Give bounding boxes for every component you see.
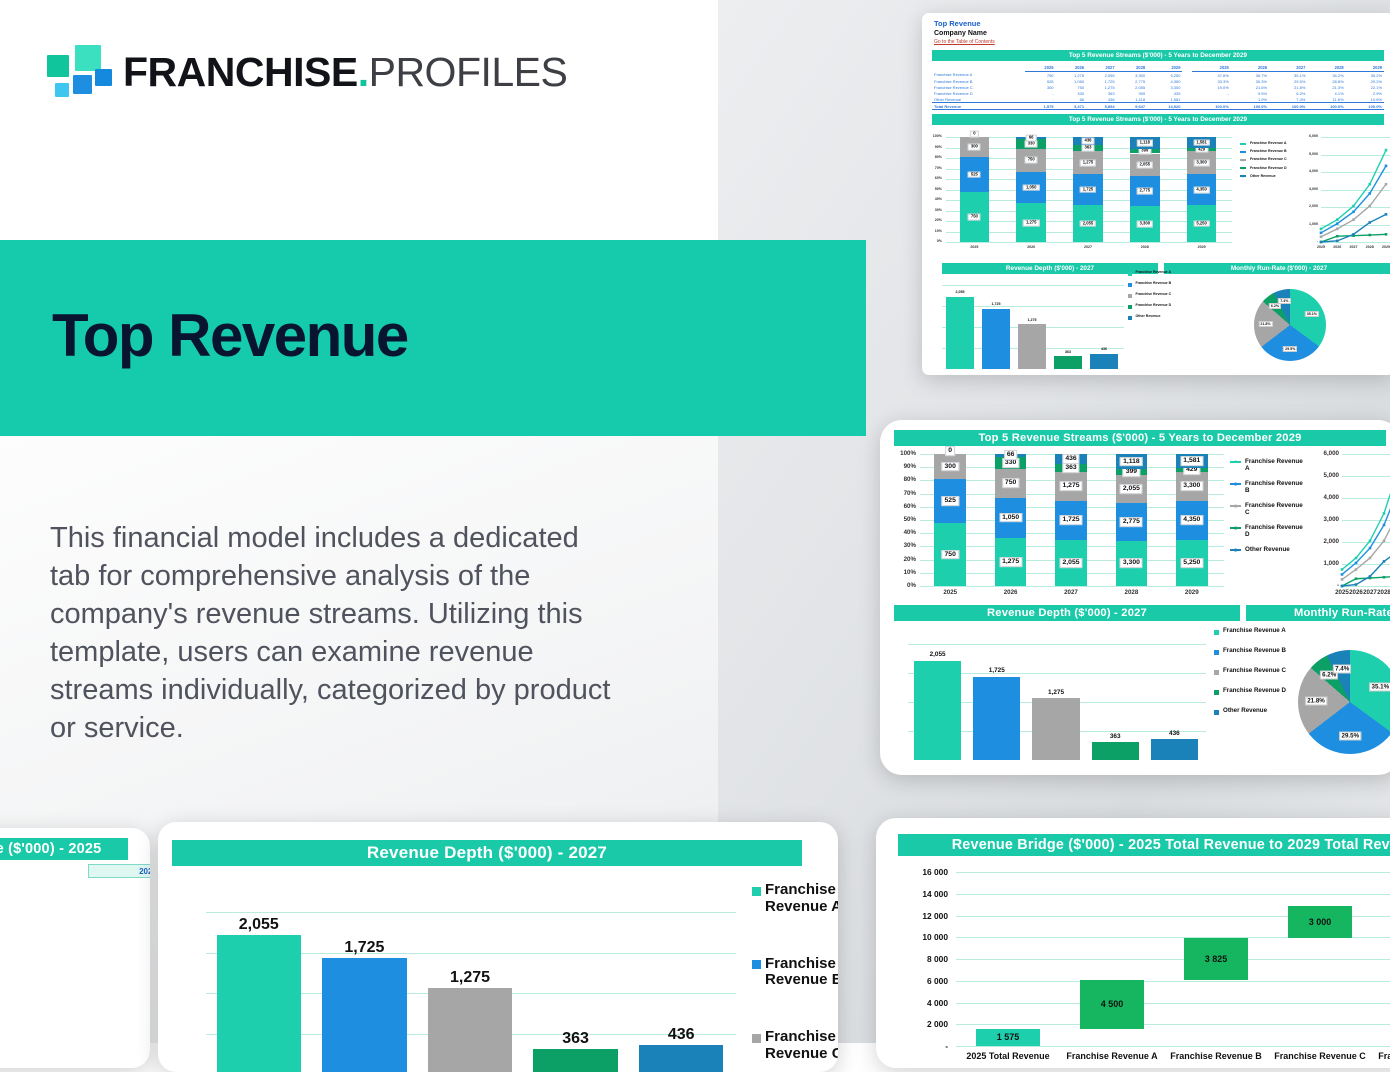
revenue-depth-panel-thumbnail[interactable]: Revenue Depth ($'000) - 2027 2,0551,7251… — [158, 822, 838, 1072]
bar — [1032, 698, 1079, 760]
left-upper-backdrop — [0, 0, 718, 240]
data-label: 1,050 — [1023, 184, 1039, 191]
x-axis-label: 2026 — [1329, 245, 1345, 249]
runrate-pie-panel-thumbnail[interactable]: Monthly Run-Rate ($'000) - 2025 2025 47,… — [0, 828, 150, 1068]
legend-swatch — [1128, 316, 1132, 320]
data-label: 4,350 — [1180, 515, 1203, 525]
data-label: 2,055 — [1120, 484, 1143, 494]
legend-swatch — [752, 960, 761, 969]
data-label: 1,275 — [1059, 481, 1082, 491]
legend-swatch — [1214, 690, 1219, 695]
data-label: 1,725 — [989, 667, 1005, 674]
toc-link[interactable]: Go to the Table of Contents — [934, 39, 1390, 47]
x-axis-label: 2027 — [1363, 589, 1377, 596]
data-label: 750 — [942, 550, 959, 560]
legend-item: Franchise Revenue C — [1128, 293, 1184, 298]
data-label: 3,300 — [1193, 159, 1209, 166]
legend-item: Franchise Revenue D — [1214, 688, 1296, 695]
col-year-pct: 2029 — [1346, 64, 1384, 72]
pie-label: 29.5% — [1283, 346, 1297, 352]
data-label: 300 — [942, 462, 959, 472]
data-label: 0 — [970, 131, 978, 138]
mini-stacked-bar-chart[interactable]: 0%10%20%30%40%50%60%70%80%90%100%7505253… — [932, 133, 1232, 251]
logo-wordmark: FRANCHISE.PROFILES — [123, 52, 567, 93]
legend-swatch — [1214, 710, 1219, 715]
data-label: 363 — [1062, 463, 1079, 473]
charts-panel-thumbnail[interactable]: Top 5 Revenue Streams ($'000) - 5 Years … — [880, 420, 1390, 775]
x-axis-label: 2027 — [1060, 245, 1117, 249]
data-label: 1,581 — [1180, 456, 1203, 466]
data-label: 1,275 — [1023, 219, 1039, 226]
y-axis-label: 8 000 — [898, 954, 948, 964]
data-label: 5,250 — [1180, 558, 1203, 568]
legend-swatch — [1214, 650, 1219, 655]
bar — [982, 309, 1011, 369]
y-axis-label: 12 000 — [898, 911, 948, 921]
y-axis-label: 6 000 — [898, 976, 948, 986]
data-label: 436 — [668, 1026, 695, 1044]
data-label: 4,350 — [1193, 186, 1209, 193]
x-axis-label: 2025 — [946, 245, 1003, 249]
legend-label: Franchise Revenue D — [1245, 524, 1308, 538]
legend-item: Franchise Revenue B — [1214, 648, 1296, 655]
legend-label: Franchise Revenue B — [1250, 149, 1287, 153]
sheet-banner-2: Top 5 Revenue Streams ($'000) - 5 Years … — [932, 114, 1384, 125]
data-label: 1,275 — [450, 969, 490, 987]
data-label: 436 — [1082, 137, 1095, 144]
bar — [639, 1045, 723, 1072]
bar — [914, 661, 961, 760]
legend-item: Franchise Revenue A — [1240, 141, 1302, 145]
pie-label: 21.8% — [1258, 321, 1272, 327]
legend-label: Other Revenue — [1250, 174, 1276, 178]
data-label: 3,300 — [1137, 221, 1153, 228]
legend-label: Franchise Revenue A — [1245, 458, 1308, 472]
legend-swatch — [1128, 294, 1132, 298]
legend-item: Franchise Revenue A — [1214, 628, 1296, 635]
sheet-title: Top Revenue — [934, 19, 1390, 29]
col-year: 2026 — [1056, 64, 1087, 72]
legend-item: Franchise Revenue B — [752, 956, 838, 990]
y-axis-label: 16 000 — [898, 867, 948, 877]
legend-item: Franchise Revenue A — [1128, 271, 1184, 276]
data-label: 66 — [1004, 450, 1018, 460]
mid-line-chart[interactable]: -1,0002,0003,0004,0005,0006,000202520262… — [1312, 450, 1390, 600]
data-label: 2,055 — [239, 916, 279, 934]
data-label: 66 — [1026, 135, 1037, 142]
data-label: 2,775 — [1137, 188, 1153, 195]
data-label: 1,275 — [1048, 689, 1064, 696]
brand-logo: FRANCHISE.PROFILES — [47, 43, 567, 101]
data-label: 1 575 — [997, 1032, 1020, 1042]
x-axis-label: 2028 — [1377, 589, 1390, 596]
col-year-pct: 2026 — [1231, 64, 1269, 72]
data-label: 1,275 — [999, 557, 1022, 567]
legend-item: Other Revenue — [1128, 315, 1184, 320]
bar — [1151, 739, 1198, 760]
x-axis-label: 2027 — [1345, 245, 1361, 249]
data-label: 2,055 — [1059, 558, 1082, 568]
data-label: 1,118 — [1120, 457, 1143, 467]
legend-swatch — [752, 1034, 761, 1043]
col-year: 2027 — [1086, 64, 1117, 72]
legend-item: Franchise Revenue D — [1240, 166, 1302, 170]
revenue-bridge-panel-thumbnail[interactable]: Revenue Bridge ($'000) - 2025 Total Reve… — [876, 818, 1390, 1068]
y-axis-label: 14 000 — [898, 889, 948, 899]
legend-label: Franchise Revenue D — [1136, 304, 1172, 308]
bm-depth-title: Revenue Depth ($'000) - 2027 — [172, 840, 802, 866]
legend-label: Franchise Revenue C — [1245, 502, 1308, 516]
data-label: 436 — [1169, 730, 1180, 737]
bar — [1092, 742, 1139, 760]
legend-item: Franchise Revenue B — [1128, 282, 1184, 287]
revenue-streams-table: 2025202620272028202920252026202720282029… — [932, 64, 1384, 110]
data-label: 1,725 — [344, 939, 384, 957]
mini-depth-legend: Franchise Revenue AFranchise Revenue BFr… — [1128, 271, 1184, 326]
x-axis-label: Franchise Revenue B — [1164, 1051, 1268, 1061]
legend-swatch — [752, 887, 761, 896]
legend-label: Other Revenue — [1245, 546, 1290, 553]
data-label: 525 — [968, 171, 981, 178]
logo-squares-icon — [47, 43, 105, 101]
data-label: 2,055 — [1137, 161, 1153, 168]
legend-label: Franchise Revenue B — [1245, 480, 1308, 494]
legend-label: Franchise Revenue C — [1250, 157, 1287, 161]
bar — [322, 958, 406, 1072]
bar — [533, 1049, 617, 1072]
legend-item: Franchise Revenue B — [1230, 480, 1308, 494]
pie-label: 7.4% — [1333, 664, 1351, 673]
legend-item: Franchise Revenue C — [1240, 157, 1302, 161]
sheet-header: Top Revenue Company Name Go to the Table… — [922, 13, 1390, 46]
data-label: 2,055 — [956, 290, 965, 294]
data-label: 0 — [945, 446, 955, 456]
logo-word-franchise: FRANCHISE — [123, 49, 358, 95]
mid-stacked-bar-chart[interactable]: 0%10%20%30%40%50%60%70%80%90%100%7505253… — [894, 450, 1224, 600]
mini-revenue-depth-chart[interactable]: 2,0551,7251,275363436 — [934, 275, 1124, 375]
line-series-svg — [1304, 133, 1390, 251]
y-axis-label: 4 000 — [898, 998, 948, 1008]
data-label: 525 — [942, 496, 959, 506]
legend-item: Other Revenue — [1230, 546, 1308, 553]
mid-stacked-legend: Franchise Revenue AFranchise Revenue BFr… — [1230, 458, 1308, 561]
bar — [428, 988, 512, 1072]
x-axis-label: 2026 — [980, 589, 1040, 596]
legend-swatch — [1230, 527, 1241, 529]
legend-swatch — [1128, 272, 1132, 276]
legend-label: Franchise Revenue A — [1223, 628, 1286, 635]
bar — [973, 677, 1020, 760]
mid-depth-chart-title: Revenue Depth ($'000) - 2027 — [894, 605, 1240, 621]
pie-label: 29.5% — [1340, 731, 1362, 740]
legend-swatch — [1240, 175, 1246, 177]
sheet-company: Company Name — [934, 29, 1390, 38]
table-row-total: Total Revenue1,5753,4715,8549,64714,9201… — [932, 103, 1384, 110]
legend-label: Franchise Revenue A — [765, 882, 838, 916]
bar — [217, 935, 301, 1072]
bar — [946, 297, 975, 369]
col-year: 2029 — [1147, 64, 1182, 72]
legend-label: Franchise Revenue B — [1136, 282, 1172, 286]
x-axis-label: 2029 — [1162, 589, 1222, 596]
legend-item: Other Revenue — [1214, 708, 1296, 715]
data-label: 750 — [968, 214, 981, 221]
mid-stacked-chart-title: Top 5 Revenue Streams ($'000) - 5 Years … — [894, 430, 1386, 446]
sheet-banner-4: Monthly Run-Rate ($'000) - 2027 — [1164, 263, 1390, 274]
data-label: 2,055 — [930, 651, 946, 658]
bl-pie-title: Monthly Run-Rate ($'000) - 2025 — [0, 838, 128, 860]
mid-depth-legend: Franchise Revenue AFranchise Revenue BFr… — [1214, 628, 1296, 728]
x-axis-label: 2028 — [1362, 245, 1378, 249]
data-label: 2,055 — [1080, 220, 1096, 227]
col-year: 2028 — [1117, 64, 1148, 72]
legend-item: Franchise Revenue D — [1128, 304, 1184, 309]
legend-swatch — [1230, 461, 1241, 463]
x-axis-label: 2027 — [1041, 589, 1101, 596]
mid-revenue-mix-pie[interactable]: 35.1%29.5%21.8%6.2%7.4% — [1288, 620, 1390, 770]
legend-item: Franchise Revenue D — [1230, 524, 1308, 538]
data-label: 750 — [1025, 157, 1038, 164]
sheet-banner-1: Top 5 Revenue Streams ($'000) - 5 Years … — [932, 50, 1384, 61]
col-year: 2025 — [1025, 64, 1056, 72]
data-label: 330 — [1025, 141, 1038, 148]
bar — [1054, 356, 1083, 369]
data-label: 1,725 — [1080, 186, 1096, 193]
legend-swatch — [1240, 143, 1246, 145]
x-axis-label: 2025 Total Revenue — [956, 1051, 1060, 1061]
pie-label: 21.8% — [1305, 696, 1327, 705]
data-label: 3 000 — [1309, 917, 1332, 927]
data-label: 3,300 — [1120, 559, 1143, 569]
data-label: 1,050 — [999, 513, 1022, 523]
x-axis-label: 2025 — [1313, 245, 1329, 249]
col-year-pct: 2025 — [1192, 64, 1230, 72]
legend-label: Other Revenue — [1223, 708, 1267, 715]
legend-item: Franchise Revenue C — [752, 1029, 838, 1063]
data-label: 363 — [1110, 733, 1121, 740]
data-label: 436 — [1101, 347, 1107, 351]
data-label: 363 — [1082, 145, 1095, 152]
data-label: 1,581 — [1193, 139, 1209, 146]
legend-item: Franchise Revenue C — [1230, 502, 1308, 516]
legend-swatch — [1128, 283, 1132, 287]
data-label: 436 — [1062, 454, 1079, 464]
legend-swatch — [1214, 630, 1219, 635]
x-axis-label: 2025 — [1335, 589, 1349, 596]
legend-item: Franchise Revenue A — [1230, 458, 1308, 472]
page-title: Top Revenue — [52, 306, 408, 366]
data-label: 3,300 — [1180, 482, 1203, 492]
pie-label: 35.1% — [1305, 311, 1319, 317]
data-label: 300 — [968, 144, 981, 151]
bar — [1018, 324, 1047, 369]
mid-revenue-depth-chart[interactable]: 2,0551,7251,275363436 — [896, 628, 1206, 768]
x-axis-label: 2026 — [1003, 245, 1060, 249]
x-axis-label: 2028 — [1116, 245, 1173, 249]
data-label: 4 500 — [1101, 999, 1124, 1009]
sheet-banner-3: Revenue Depth ($'000) - 2027 — [942, 263, 1158, 274]
legend-item: Franchise Revenue A — [752, 882, 838, 916]
mini-line-chart[interactable]: -1,0002,0003,0004,0005,0006,000202520262… — [1304, 133, 1390, 251]
data-label: 2,775 — [1120, 517, 1143, 527]
legend-label: Franchise Revenue D — [1250, 166, 1287, 170]
legend-label: Other Revenue — [1136, 315, 1161, 319]
bm-depth-legend: Franchise Revenue AFranchise Revenue BFr… — [752, 882, 838, 1072]
legend-label: Franchise Revenue B — [1223, 648, 1286, 655]
data-label: 1,275 — [1080, 159, 1096, 166]
br-revenue-bridge-chart[interactable]: -2 0004 0006 0008 00010 00012 00014 0001… — [898, 864, 1390, 1068]
br-bridge-title: Revenue Bridge ($'000) - 2025 Total Reve… — [898, 834, 1390, 856]
hero-description: This financial model includes a dedicate… — [50, 520, 622, 748]
data-label: 363 — [1065, 350, 1071, 354]
pie-label: 35.1% — [1370, 682, 1390, 691]
legend-swatch — [1240, 167, 1246, 169]
y-axis-label: 2 000 — [898, 1019, 948, 1029]
bar — [1090, 354, 1119, 369]
legend-swatch — [1230, 505, 1241, 507]
x-axis-label: Franchise Revenue A — [1060, 1051, 1164, 1061]
legend-label: Franchise Revenue D — [1223, 688, 1286, 695]
legend-swatch — [1214, 670, 1219, 675]
bl-pie-chart[interactable]: 47,6%33,3%19,0%0,0%0,0% — [0, 880, 12, 1065]
mini-stacked-legend: Franchise Revenue AFranchise Revenue BFr… — [1240, 141, 1302, 182]
x-axis-label: 2028 — [1101, 589, 1161, 596]
data-label: 1,725 — [1059, 515, 1082, 525]
legend-swatch — [1240, 159, 1246, 161]
pie-label: 7.4% — [1278, 298, 1290, 304]
bl-year-tab[interactable]: 2025 — [88, 864, 150, 878]
data-label: 1,118 — [1137, 140, 1153, 147]
data-label: 1,725 — [992, 302, 1001, 306]
col-year-pct: 2028 — [1307, 64, 1345, 72]
x-axis-label: Franchise Revenue D — [1372, 1051, 1390, 1061]
col-year-pct: 2027 — [1269, 64, 1307, 72]
legend-label: Franchise Revenue A — [1250, 141, 1286, 145]
spreadsheet-thumbnail[interactable]: Top Revenue Company Name Go to the Table… — [922, 13, 1390, 375]
logo-dot: . — [358, 49, 369, 95]
data-label: 3 825 — [1205, 954, 1228, 964]
logo-word-profiles: PROFILES — [369, 49, 568, 95]
x-axis-label: 2029 — [1378, 245, 1390, 249]
legend-label: Franchise Revenue C — [765, 1029, 838, 1063]
legend-label: Franchise Revenue C — [1223, 668, 1286, 675]
x-axis-label: Franchise Revenue C — [1268, 1051, 1372, 1061]
legend-swatch — [1240, 151, 1246, 153]
data-label: 363 — [562, 1030, 589, 1048]
legend-item: Franchise Revenue B — [1240, 149, 1302, 153]
legend-label: Franchise Revenue B — [765, 956, 838, 990]
legend-item: Other Revenue — [1240, 174, 1302, 178]
legend-swatch — [1230, 549, 1241, 551]
x-axis-label: 2026 — [1349, 589, 1363, 596]
line-series-svg — [1312, 450, 1390, 600]
data-label: 1,275 — [1028, 318, 1037, 322]
legend-label: Franchise Revenue A — [1136, 271, 1171, 275]
y-axis-label: 10 000 — [898, 932, 948, 942]
legend-swatch — [1128, 305, 1132, 309]
x-axis-label: 2025 — [920, 589, 980, 596]
mini-revenue-mix-pie[interactable]: 35.1%29.5%21.8%6.2%7.4% — [1190, 275, 1390, 375]
legend-item: Franchise Revenue C — [1214, 668, 1296, 675]
mid-runrate-chart-title: Monthly Run-Rate ($'000) - 2027 — [1246, 605, 1390, 621]
data-label: 5,250 — [1193, 220, 1209, 227]
data-label: 750 — [1002, 478, 1019, 488]
legend-label: Franchise Revenue C — [1136, 293, 1172, 297]
x-axis-label: 2029 — [1173, 245, 1230, 249]
legend-swatch — [1230, 483, 1241, 485]
